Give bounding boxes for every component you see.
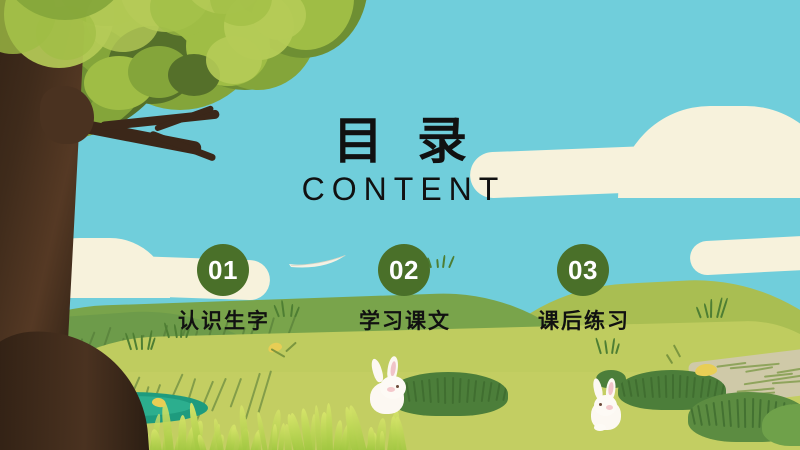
contents-number-badge-02[interactable]: 02	[378, 244, 430, 296]
page-title-cn: 目 录	[0, 113, 800, 169]
contents-number-badge-01[interactable]: 01	[197, 244, 249, 296]
contents-slide: 目 录 CONTENT 01 认识生字 02 学习课文 03 课后练习	[0, 0, 800, 450]
contents-item-02[interactable]: 02 学习课文	[329, 244, 479, 335]
contents-number-badge-03[interactable]: 03	[557, 244, 609, 296]
contents-label-03[interactable]: 课后练习	[508, 305, 658, 335]
contents-label-02[interactable]: 学习课文	[329, 305, 479, 335]
tree-canopy-front	[0, 0, 800, 450]
page-title-en: CONTENT	[0, 170, 800, 208]
contents-item-01[interactable]: 01 认识生字	[148, 244, 298, 335]
contents-item-03[interactable]: 03 课后练习	[508, 244, 658, 335]
contents-label-01[interactable]: 认识生字	[148, 305, 298, 335]
